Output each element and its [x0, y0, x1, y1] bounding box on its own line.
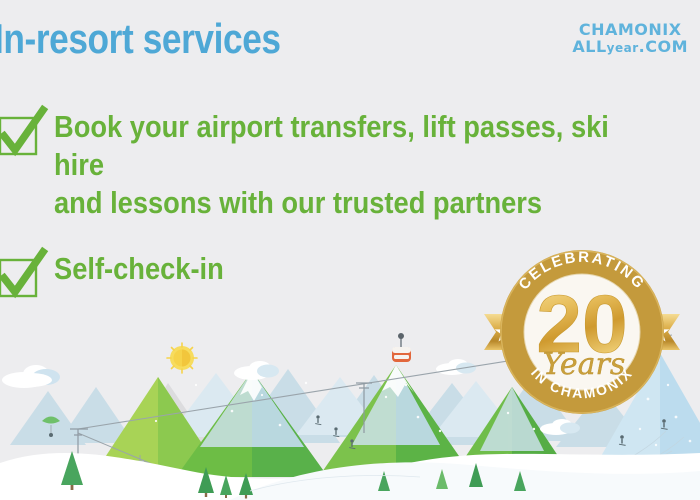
logo-line-one: CHAMONIX: [572, 22, 688, 38]
check-box-icon: [0, 254, 44, 300]
logo-line-two: ALLyear.COM: [572, 39, 688, 55]
page-title: In-resort services: [0, 18, 281, 60]
list-item-label: Book your airport transfers, lift passes…: [54, 106, 622, 222]
anniversary-badge: CELEBRATING IN CHAMONIX 20 Years: [484, 234, 680, 420]
list-item[interactable]: Book your airport transfers, lift passes…: [0, 106, 700, 222]
badge-script-text: Years: [543, 347, 626, 382]
list-item-label: Self-check-in: [54, 248, 224, 288]
logo-year: year: [607, 41, 639, 55]
logo-dotcom: .COM: [639, 37, 688, 56]
chamonix-all-year-logo[interactable]: CHAMONIX ALLyear.COM: [572, 22, 688, 55]
check-box-icon: [0, 112, 44, 158]
logo-all: ALL: [572, 37, 606, 56]
sun-icon: [167, 343, 197, 373]
slide-root: In-resort services CHAMONIX ALLyear.COM …: [0, 0, 700, 500]
